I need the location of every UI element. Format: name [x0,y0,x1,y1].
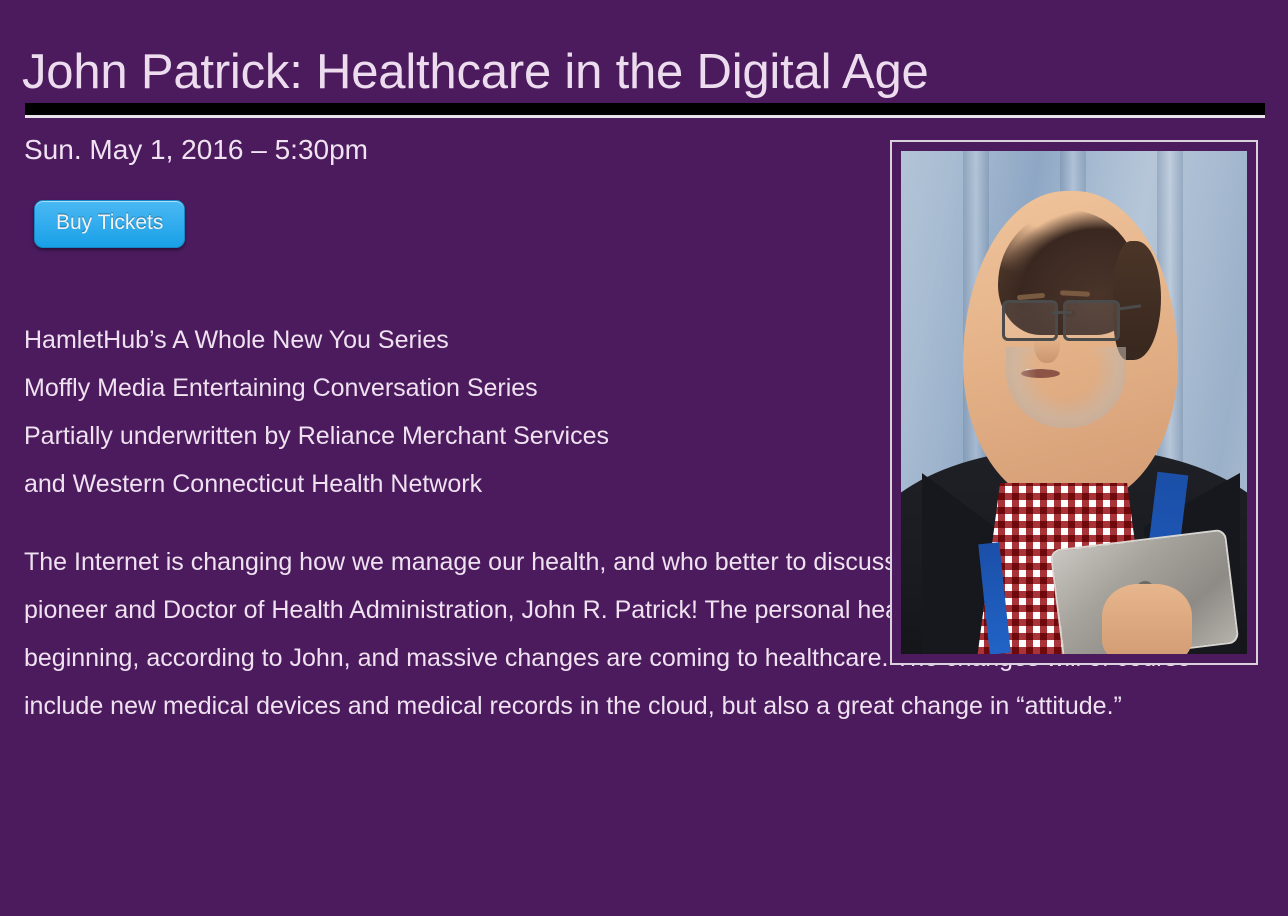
series-credits: HamletHub’s A Whole New You Series Moffl… [24,316,869,508]
eyeglass-bridge [1052,311,1071,314]
buy-tickets-button[interactable]: Buy Tickets [34,200,185,248]
page-title: John Patrick: Healthcare in the Digital … [22,41,1222,103]
speaker-photo-frame [890,140,1258,665]
subject-beard [1006,347,1126,428]
subject-head [963,191,1178,503]
eyeglass-lens [1063,300,1119,340]
event-details-column: Sun. May 1, 2016 – 5:30pm Buy Tickets Ha… [24,132,869,755]
speaker-photo [901,151,1247,654]
series-line: HamletHub’s A Whole New You Series [24,316,869,364]
subject-hand [1102,584,1192,654]
event-page: John Patrick: Healthcare in the Digital … [0,0,1288,916]
series-line: Partially underwritten by Reliance Merch… [24,412,869,460]
series-line: Moffly Media Entertaining Conversation S… [24,364,869,412]
title-divider-rule [25,103,1265,118]
event-date-time: Sun. May 1, 2016 – 5:30pm [24,132,869,168]
cta-container: Buy Tickets [34,200,869,248]
eyeglasses [1002,300,1122,334]
series-line: and Western Connecticut Health Network [24,460,869,508]
